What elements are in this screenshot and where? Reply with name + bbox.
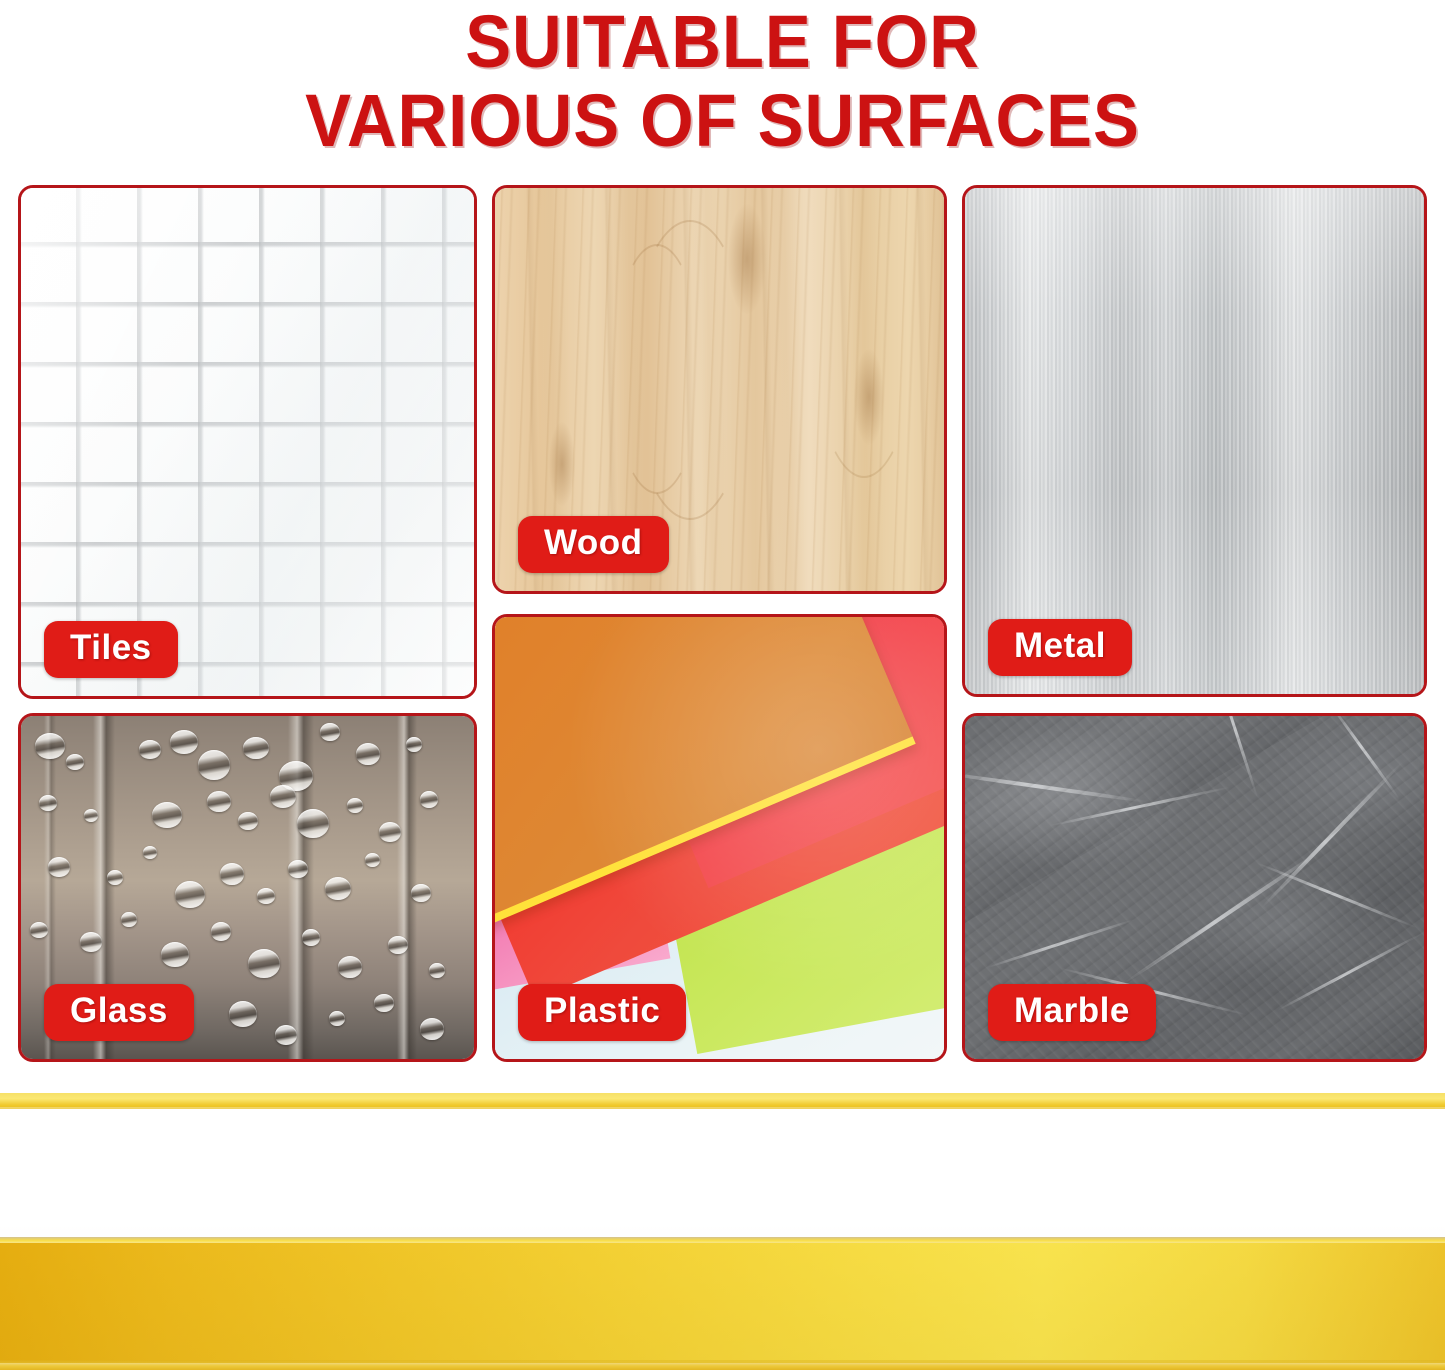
surface-label-plastic: Plastic bbox=[518, 984, 686, 1041]
surface-card-plastic: Plastic bbox=[492, 614, 947, 1062]
surface-card-wood: Wood bbox=[492, 185, 947, 594]
surface-label-marble: Marble bbox=[988, 984, 1156, 1041]
page-title: SUITABLE FOR VARIOUS OF SURFACES bbox=[0, 2, 1445, 160]
surface-label-tiles: Tiles bbox=[44, 621, 178, 678]
surface-label-glass: Glass bbox=[44, 984, 194, 1041]
surface-label-metal: Metal bbox=[988, 619, 1132, 676]
page-title-line-2: VARIOUS OF SURFACES bbox=[51, 81, 1395, 160]
tile-grid-icon bbox=[21, 188, 474, 696]
squeegee-highlight bbox=[0, 1107, 1445, 1363]
yellow-squeegee-blade bbox=[0, 1093, 1445, 1370]
surface-label-wood: Wood bbox=[518, 516, 669, 573]
page-title-line-1: SUITABLE FOR bbox=[51, 2, 1395, 81]
surface-card-metal: Metal bbox=[962, 185, 1427, 697]
surface-card-marble: Marble bbox=[962, 713, 1427, 1062]
surface-card-glass: Glass bbox=[18, 713, 477, 1062]
surface-card-tiles: Tiles bbox=[18, 185, 477, 699]
